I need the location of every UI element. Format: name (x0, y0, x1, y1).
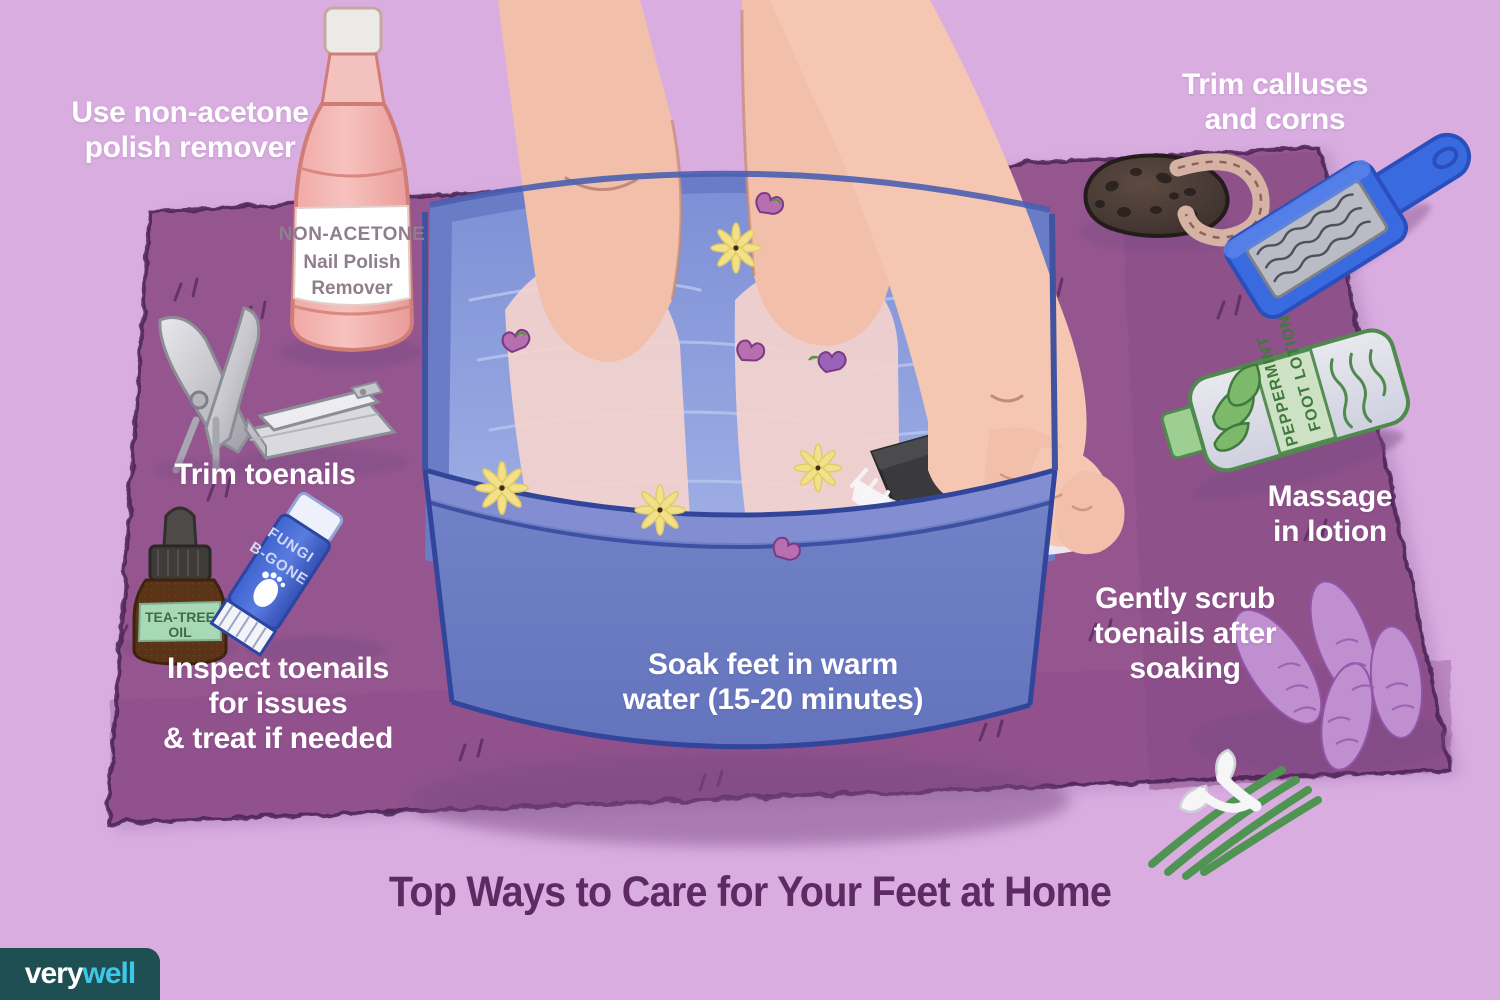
callout-gently-scrub: Gently scrub toenails after soaking (1040, 582, 1330, 686)
oil-line2: OIL (168, 624, 192, 640)
bottle-cap (325, 8, 381, 54)
callout-trim-calluses: Trim calluses and corns (1125, 68, 1425, 138)
logo-text-very: very (25, 957, 83, 990)
label-line2: Nail Polish (303, 252, 400, 273)
callout-soak-feet: Soak feet in warm water (15-20 minutes) (578, 648, 968, 718)
page-title: Top Ways to Care for Your Feet at Home (60, 868, 1440, 917)
label-line1: NON-ACETONE (279, 224, 426, 245)
verywell-logo[interactable]: verywell (0, 948, 160, 1000)
callout-inspect-toenails: Inspect toenails for issues & treat if n… (108, 652, 448, 756)
label-line3: Remover (311, 278, 393, 299)
callout-trim-toenails: Trim toenails (140, 458, 390, 493)
infographic-canvas: NON-ACETONE Nail Polish Remover (0, 0, 1500, 1000)
callout-massage-lotion: Massage in lotion (1210, 480, 1450, 550)
oil-line1: TEA-TREE (145, 609, 215, 625)
logo-text-well: well (83, 957, 136, 990)
callout-polish-remover: Use non-acetone polish remover (30, 96, 350, 166)
